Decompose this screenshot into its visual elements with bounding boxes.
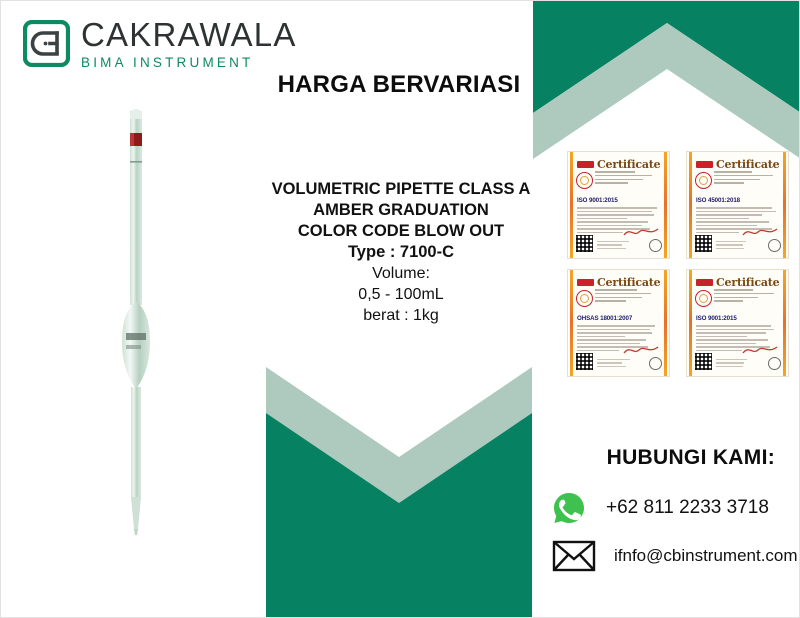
cert-issuer-logo <box>577 161 594 168</box>
cert-standard: ISO 45001:2018 <box>696 197 779 204</box>
cert-footer-lines <box>597 359 643 369</box>
cert-signature <box>742 226 778 238</box>
cert-title: Certificate <box>716 277 779 288</box>
cert-stamp-icon <box>649 239 662 252</box>
cert-stamp-icon <box>768 239 781 252</box>
chevron-bottom-light <box>266 367 532 503</box>
spec-line: Type : 7100-C <box>241 242 561 263</box>
spec-line: Volume: <box>241 263 561 284</box>
cert-border-right <box>664 152 667 258</box>
certificate-gallery: Certificate ISO 9001:2015 <box>567 151 789 377</box>
email-contact[interactable]: ifnfo@cbinstrument.com <box>552 539 798 573</box>
brand-name: CAKRAWALA <box>81 18 297 51</box>
cert-border-right <box>783 152 786 258</box>
cert-issuer-logo <box>696 279 713 286</box>
cert-header: Certificate <box>577 277 660 288</box>
cert-qr-code <box>576 235 593 252</box>
cert-title: Certificate <box>597 159 660 170</box>
cert-subject-lines <box>595 171 660 186</box>
cert-stamp-icon <box>768 357 781 370</box>
cert-qr-code <box>576 353 593 370</box>
cert-footer-lines <box>597 241 643 251</box>
spec-line: AMBER GRADUATION <box>241 200 561 221</box>
cert-border-left <box>689 270 692 376</box>
cert-seal-icon <box>576 172 593 189</box>
cert-subject-lines <box>595 289 660 304</box>
email-address[interactable]: ifnfo@cbinstrument.com <box>614 546 798 566</box>
cert-title: Certificate <box>597 277 660 288</box>
cert-qr-code <box>695 353 712 370</box>
whatsapp-icon[interactable] <box>552 491 586 525</box>
brand-wordmark: CAKRAWALA BIMA INSTRUMENT <box>81 18 297 70</box>
cert-seal-icon <box>695 290 712 307</box>
cert-signature <box>742 344 778 356</box>
cert-footer-lines <box>716 241 762 251</box>
brand-tagline: BIMA INSTRUMENT <box>81 56 297 70</box>
whatsapp-number[interactable]: +62 811 2233 3718 <box>606 497 769 519</box>
chevron-top-light <box>533 23 800 159</box>
chevron-top-dark <box>533 1 800 113</box>
certificate-card: Certificate ISO 9001:2015 <box>686 269 789 377</box>
cert-standard: ISO 9001:2015 <box>577 197 660 204</box>
cert-issuer-logo <box>696 161 713 168</box>
spec-line: berat : 1kg <box>241 305 561 326</box>
envelope-icon[interactable] <box>552 539 596 573</box>
certificate-card: Certificate ISO 45001:2018 <box>686 151 789 259</box>
cert-qr-code <box>695 235 712 252</box>
cert-border-left <box>689 152 692 258</box>
cakrawala-logo-mark <box>23 20 70 67</box>
contact-heading: HUBUNGI KAMI: <box>607 446 775 470</box>
cert-issuer-logo <box>577 279 594 286</box>
cert-signature <box>623 226 659 238</box>
cert-standard: ISO 9001:2015 <box>696 315 779 322</box>
cert-subject-lines <box>714 289 779 304</box>
cert-signature <box>623 344 659 356</box>
headline: HARGA BERVARIASI <box>259 71 539 99</box>
certificate-card: Certificate OHSAS 18001:2007 <box>567 269 670 377</box>
cert-stamp-icon <box>649 357 662 370</box>
spec-line: 0,5 - 100mL <box>241 284 561 305</box>
cert-border-right <box>783 270 786 376</box>
cert-title: Certificate <box>716 159 779 170</box>
chevron-bottom-dark <box>266 413 532 618</box>
cert-header: Certificate <box>696 277 779 288</box>
cert-seal-icon <box>695 172 712 189</box>
volumetric-pipette-image <box>109 105 163 535</box>
cert-border-right <box>664 270 667 376</box>
cert-subject-lines <box>714 171 779 186</box>
cert-header: Certificate <box>577 159 660 170</box>
cert-footer-lines <box>716 359 762 369</box>
spec-line: COLOR CODE BLOW OUT <box>241 221 561 242</box>
cert-border-left <box>570 152 573 258</box>
cert-border-left <box>570 270 573 376</box>
product-specifications: VOLUMETRIC PIPETTE CLASS A AMBER GRADUAT… <box>241 179 561 326</box>
cert-header: Certificate <box>696 159 779 170</box>
brand-logo: CAKRAWALA BIMA INSTRUMENT <box>23 18 297 70</box>
certificate-card: Certificate ISO 9001:2015 <box>567 151 670 259</box>
whatsapp-contact[interactable]: +62 811 2233 3718 <box>552 491 769 525</box>
spec-line: VOLUMETRIC PIPETTE CLASS A <box>241 179 561 200</box>
product-flyer: CAKRAWALA BIMA INSTRUMENT HARGA BERVARIA… <box>0 0 800 618</box>
cert-seal-icon <box>576 290 593 307</box>
cert-standard: OHSAS 18001:2007 <box>577 315 660 322</box>
